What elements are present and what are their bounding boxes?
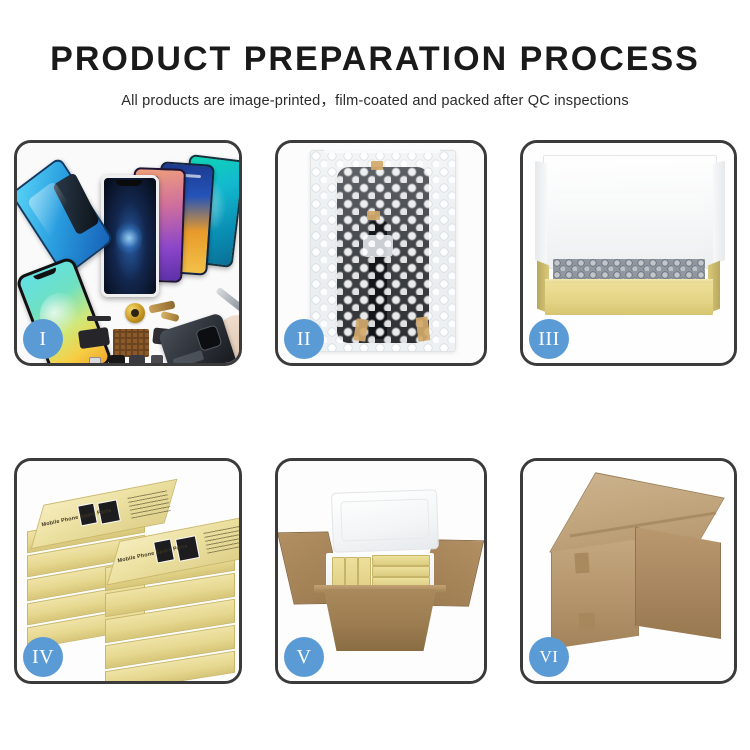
carton-side-face <box>635 527 721 639</box>
step-badge-4: IV <box>23 637 63 677</box>
sim-tray-icon <box>89 357 101 363</box>
small-chip-icon <box>151 355 163 363</box>
foam-box-lid-icon <box>331 489 439 553</box>
tape-piece-icon <box>371 161 383 170</box>
box-front-panel <box>545 283 713 315</box>
process-step-panel-4: Mobile Phone Spare Parts Mobile Phone Sp… <box>14 458 242 684</box>
process-step-panel-2: II <box>275 140 487 366</box>
step-badge-1: I <box>23 319 63 359</box>
foam-liner <box>557 195 703 265</box>
vibration-motor-icon <box>129 355 145 363</box>
step-badge-2: II <box>284 319 324 359</box>
bag-top-seal <box>324 143 440 153</box>
carton-body <box>316 589 444 651</box>
tape-piece-icon <box>367 211 380 220</box>
yellow-box-item <box>372 566 430 577</box>
bar-part-icon <box>87 316 111 321</box>
speaker-part-icon <box>125 303 145 323</box>
process-step-panel-6: VI <box>520 458 737 684</box>
carton-tape-patch <box>578 612 595 631</box>
carton-front-face <box>551 539 639 649</box>
step-badge-6: VI <box>529 637 569 677</box>
bubble-wrap-bag-icon <box>310 150 456 352</box>
process-step-panel-5: V <box>275 458 487 684</box>
step-badge-5: V <box>284 637 324 677</box>
header: PRODUCT PREPARATION PROCESS All products… <box>0 0 750 110</box>
process-step-panel-1: I <box>14 140 242 366</box>
camera-module-icon <box>109 355 125 363</box>
carton-tape-patch <box>574 553 589 574</box>
product-preparation-infographic: PRODUCT PREPARATION PROCESS All products… <box>0 0 750 750</box>
yellow-box-item <box>372 555 430 566</box>
process-step-panel-3: III <box>520 140 737 366</box>
step-badge-3: III <box>529 319 569 359</box>
chip-grid-part-icon <box>113 329 149 357</box>
process-step-grid: I II <box>14 140 737 684</box>
page-title: PRODUCT PREPARATION PROCESS <box>0 0 750 76</box>
page-subtitle: All products are image-printed，film-coat… <box>0 76 750 110</box>
bubble-texture <box>311 151 455 351</box>
